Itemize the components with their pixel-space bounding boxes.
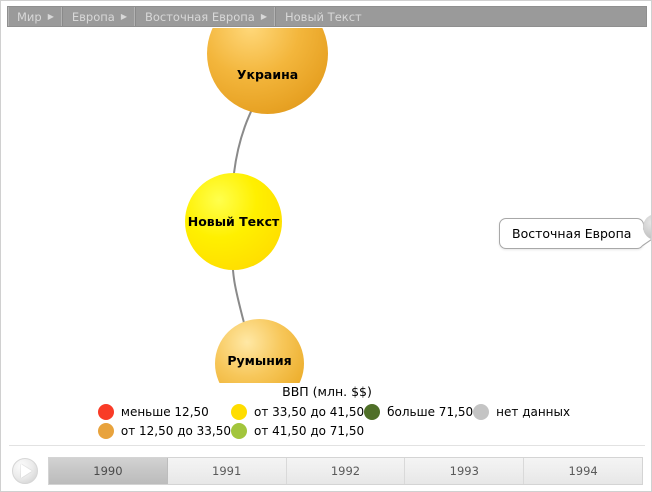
legend-swatch-icon [231,423,247,439]
legend-label: от 12,50 до 33,50 [121,424,231,438]
bubble-node-new-text[interactable]: Новый Текст [185,173,282,270]
legend-column: от 33,50 до 41,50 от 41,50 до 71,50 [231,404,364,439]
legend-label: от 33,50 до 41,50 [254,405,364,419]
legend-label: больше 71,50 [387,405,473,419]
legend-title: ВВП (млн. $$) [1,384,652,399]
legend-item[interactable]: меньше 12,50 [98,404,231,420]
legend-label: меньше 12,50 [121,405,209,419]
chevron-right-icon: ▶ [48,13,54,21]
year-label: 1990 [93,464,122,478]
node-callout-eastern-europe[interactable]: Восточная Европа [499,218,644,249]
legend: ВВП (млн. $$) меньше 12,50 от 12,50 до 3… [1,384,652,439]
year-tick-1990[interactable]: 1990 [49,458,168,484]
breadcrumb-item-eastern-europe[interactable]: Восточная Европа ▶ [136,7,276,26]
play-button[interactable] [12,458,38,484]
legend-swatch-icon [473,404,489,420]
legend-label: от 41,50 до 71,50 [254,424,364,438]
legend-item[interactable]: от 33,50 до 41,50 [231,404,364,420]
legend-column: нет данных [473,404,570,439]
legend-swatch-icon [231,404,247,420]
chevron-right-icon: ▶ [261,13,267,21]
breadcrumb-label: Новый Текст [285,10,362,24]
year-label: 1994 [568,464,597,478]
year-tick-1994[interactable]: 1994 [524,458,642,484]
breadcrumb-label: Европа [72,10,115,24]
year-track: 1990 1991 1992 1993 1994 [48,457,643,485]
year-label: 1993 [450,464,479,478]
year-label: 1991 [212,464,241,478]
legend-item[interactable]: от 41,50 до 71,50 [231,423,364,439]
timeline: 1990 1991 1992 1993 1994 [1,451,652,491]
callout-label: Восточная Европа [512,226,631,241]
breadcrumb-item-current[interactable]: Новый Текст [276,7,646,26]
legend-item[interactable]: больше 71,50 [364,404,473,420]
legend-column: больше 71,50 [364,404,473,439]
breadcrumb-label: Восточная Европа [145,10,255,24]
legend-label: нет данных [496,405,570,419]
year-tick-1992[interactable]: 1992 [287,458,406,484]
legend-swatch-icon [364,404,380,420]
bubble-label: Румыния [227,354,291,368]
legend-items: меньше 12,50 от 12,50 до 33,50 от 33,50 … [1,404,652,439]
year-tick-1993[interactable]: 1993 [405,458,524,484]
legend-swatch-icon [98,423,114,439]
chevron-right-icon: ▶ [121,13,127,21]
motion-chart-app: Мир ▶ Европа ▶ Восточная Европа ▶ Новый … [0,0,652,492]
legend-column: меньше 12,50 от 12,50 до 33,50 [98,404,231,439]
breadcrumb-item-world[interactable]: Мир ▶ [8,7,63,26]
timeline-separator [9,445,645,446]
bubble-canvas: Украина Новый Текст Румыния Восточная Ев… [2,28,652,383]
legend-swatch-icon [98,404,114,420]
year-tick-1991[interactable]: 1991 [168,458,287,484]
bubble-label: Украина [237,68,298,82]
legend-item[interactable]: нет данных [473,404,570,420]
bubble-label: Новый Текст [188,215,280,229]
breadcrumb-item-europe[interactable]: Европа ▶ [63,7,136,26]
node-links [2,28,652,383]
legend-item[interactable]: от 12,50 до 33,50 [98,423,231,439]
year-label: 1992 [331,464,360,478]
breadcrumb-label: Мир [17,10,42,24]
play-icon [21,464,32,478]
breadcrumb: Мир ▶ Европа ▶ Восточная Европа ▶ Новый … [7,6,647,27]
